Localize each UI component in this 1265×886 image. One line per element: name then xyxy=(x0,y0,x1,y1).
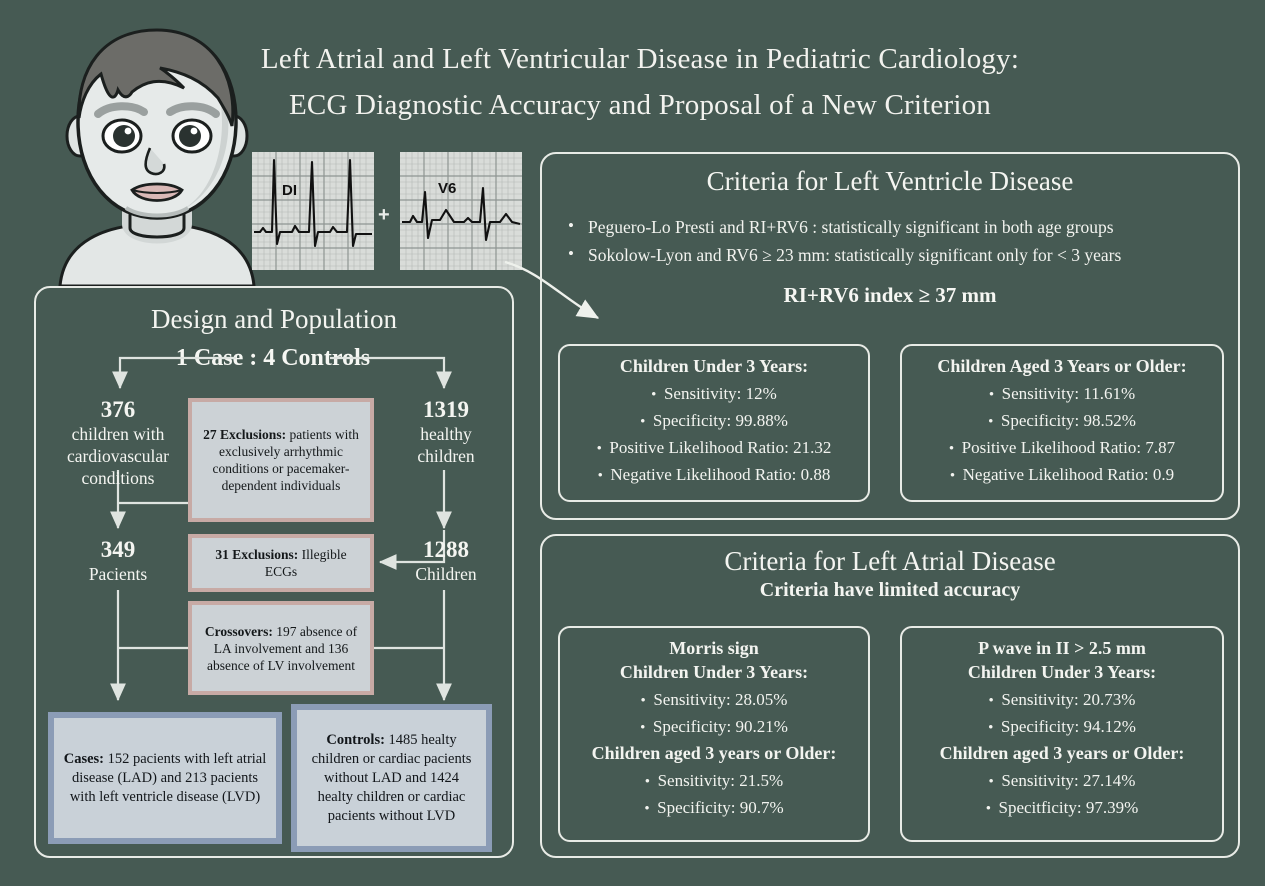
lv-criteria-item: Peguero-Lo Presti and RI+RV6 : statistic… xyxy=(566,213,1238,241)
cases-box-lead: Cases: xyxy=(64,751,104,767)
metric-item: Sensitivity: 21.5% xyxy=(570,768,858,795)
controls-result-box: Controls: 1485 healty children or cardia… xyxy=(291,704,492,852)
morris-criterion-name: Morris sign xyxy=(570,636,858,660)
metric-item: Negative Likelihood Ratio: 0.9 xyxy=(912,462,1212,489)
flow-node-children: 1288 Children xyxy=(384,536,508,585)
cases-result-box: Cases: 152 pacients with left atrial dis… xyxy=(48,712,282,844)
title-line-1: Left Atrial and Left Ventricular Disease… xyxy=(200,36,1080,82)
cases-source-count: 376 xyxy=(40,396,196,423)
p-wave-box: P wave in II > 2.5 mm Children Under 3 Y… xyxy=(900,626,1224,842)
exclusion-box-arrhythmic: 27 Exclusions: patients with exclusively… xyxy=(188,398,374,522)
metric-item: Specificity: 90.7% xyxy=(570,795,858,822)
ecg-lead-label-di: DI xyxy=(282,182,297,199)
lv-criteria-item: Sokolow-Lyon and RV6 ≥ 23 mm: statistica… xyxy=(566,241,1238,269)
metric-item: Positive Likelihood Ratio: 7.87 xyxy=(912,435,1212,462)
metric-item: Positive Likelihood Ratio: 21.32 xyxy=(570,435,858,462)
lv-under3-heading: Children Under 3 Years: xyxy=(570,354,858,378)
flow-node-patients: 349 Pacients xyxy=(56,536,180,585)
infographic-root: Left Atrial and Left Ventricular Disease… xyxy=(0,0,1265,886)
la-panel-title: Criteria for Left Atrial Disease xyxy=(542,546,1238,577)
exclusion-box-illegible-ecg: 31 Exclusions: Illegible ECGs xyxy=(188,534,374,592)
lv-over3-heading: Children Aged 3 Years or Older: xyxy=(912,354,1212,378)
pwave-under3-heading: Children Under 3 Years: xyxy=(912,660,1212,684)
metric-item: Sensitivity: 12% xyxy=(570,381,858,408)
cases-source-label: children withcardiovascularconditions xyxy=(40,423,196,489)
pwave-under3-metrics: Sensitivity: 20.73% Specificity: 94.12% xyxy=(912,687,1212,741)
crossovers-box: Crossovers: 197 absence of LA involvemen… xyxy=(188,601,374,695)
morris-under3-heading: Children Under 3 Years: xyxy=(570,660,858,684)
children-count: 1288 xyxy=(384,536,508,563)
lv-criteria-list: Peguero-Lo Presti and RI+RV6 : statistic… xyxy=(566,213,1238,269)
metric-item: Sensitivity: 27.14% xyxy=(912,768,1212,795)
patients-label: Pacients xyxy=(56,563,180,585)
morris-under3-metrics: Sensitivity: 28.05% Specificity: 90.21% xyxy=(570,687,858,741)
lv-panel-title: Criteria for Left Ventricle Disease xyxy=(542,166,1238,197)
metric-item: Specificity: 98.52% xyxy=(912,408,1212,435)
patients-count: 349 xyxy=(56,536,180,563)
metric-item: Sensitivity: 28.05% xyxy=(570,687,858,714)
ecg-plus-symbol: + xyxy=(378,204,390,227)
crossovers-lead: Crossovers: xyxy=(205,624,273,639)
title-line-2: ECG Diagnostic Accuracy and Proposal of … xyxy=(200,82,1080,128)
lv-over3-metrics: Sensitivity: 11.61% Specificity: 98.52% … xyxy=(912,381,1212,489)
flow-node-cases-source: 376 children withcardiovascularcondition… xyxy=(40,396,196,489)
lv-under3-metrics: Sensitivity: 12% Specificity: 99.88% Pos… xyxy=(570,381,858,489)
ecg-strip-di xyxy=(252,152,374,270)
la-panel-subtitle: Criteria have limited accuracy xyxy=(542,579,1238,602)
metric-item: Sensitivity: 20.73% xyxy=(912,687,1212,714)
metric-item: Specificity: 90.21% xyxy=(570,714,858,741)
ecg-strip-v6 xyxy=(400,152,522,270)
controls-source-count: 1319 xyxy=(386,396,506,423)
lv-over3-box: Children Aged 3 Years or Older: Sensitiv… xyxy=(900,344,1224,502)
children-label: Children xyxy=(384,563,508,585)
pwave-criterion-name: P wave in II > 2.5 mm xyxy=(912,636,1212,660)
controls-source-label: healthychildren xyxy=(386,423,506,467)
flow-node-controls-source: 1319 healthychildren xyxy=(386,396,506,467)
lv-proposed-index: RI+RV6 index ≥ 37 mm xyxy=(542,283,1238,308)
pwave-over3-metrics: Sensitivity: 27.14% Specitficity: 97.39% xyxy=(912,768,1212,822)
metric-item: Specitficity: 97.39% xyxy=(912,795,1212,822)
ecg-lead-label-v6: V6 xyxy=(438,180,456,197)
metric-item: Negative Likelihood Ratio: 0.88 xyxy=(570,462,858,489)
morris-over3-metrics: Sensitivity: 21.5% Specificity: 90.7% xyxy=(570,768,858,822)
exclusion-2-lead: 31 Exclusions: xyxy=(215,547,298,562)
case-control-ratio-label: 1 Case : 4 Controls xyxy=(128,345,418,372)
design-panel-title: Design and Population xyxy=(36,304,512,335)
morris-sign-box: Morris sign Children Under 3 Years: Sens… xyxy=(558,626,870,842)
lv-under3-box: Children Under 3 Years: Sensitivity: 12%… xyxy=(558,344,870,502)
exclusion-1-lead: 27 Exclusions: xyxy=(203,427,286,442)
ecg-strips-group: DI + V6 xyxy=(252,152,522,274)
controls-box-lead: Controls: xyxy=(326,732,385,748)
page-title: Left Atrial and Left Ventricular Disease… xyxy=(200,36,1080,128)
morris-over3-heading: Children aged 3 years or Older: xyxy=(570,741,858,765)
metric-item: Sensitivity: 11.61% xyxy=(912,381,1212,408)
pwave-over3-heading: Children aged 3 years or Older: xyxy=(912,741,1212,765)
metric-item: Specificity: 99.88% xyxy=(570,408,858,435)
metric-item: Specificity: 94.12% xyxy=(912,714,1212,741)
